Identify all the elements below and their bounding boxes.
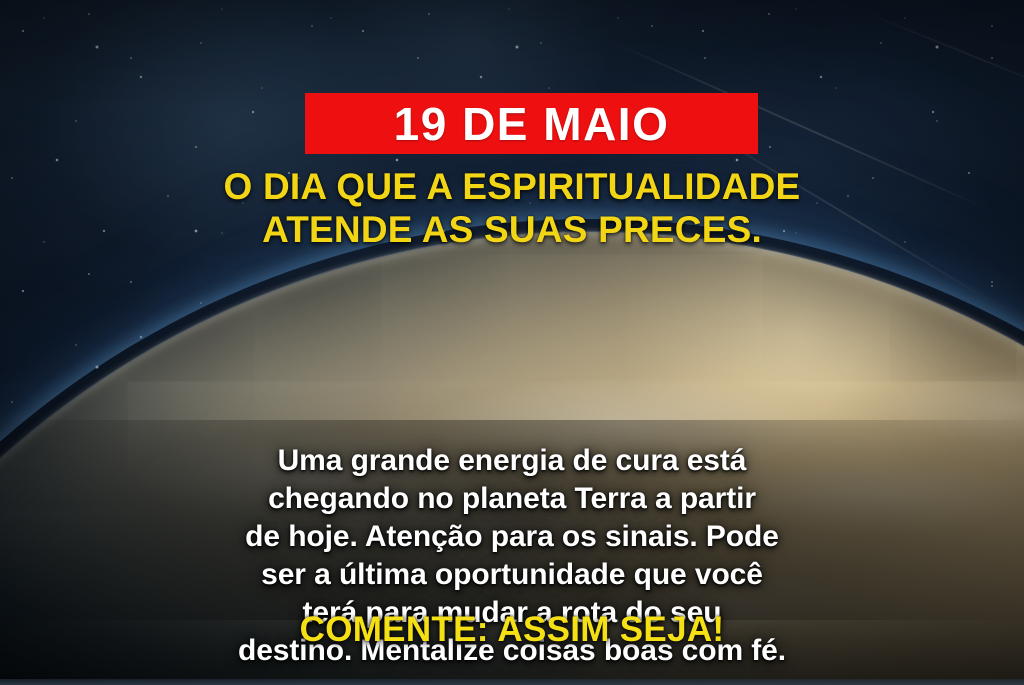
call-to-action-text: COMENTE: ASSIM SEJA!: [0, 612, 1024, 647]
body-copy-line-2: chegando no planeta Terra a partir: [58, 480, 966, 518]
poster-content: 19 DE MAIO O DIA QUE A ESPIRITUALIDADE A…: [0, 0, 1024, 685]
body-copy-line-4: ser a última oportunidade que você: [58, 556, 966, 594]
social-media-poster: 19 DE MAIO O DIA QUE A ESPIRITUALIDADE A…: [0, 0, 1024, 685]
headline-line-2: ATENDE AS SUAS PRECES.: [40, 209, 984, 252]
headline: O DIA QUE A ESPIRITUALIDADE ATENDE AS SU…: [0, 166, 1024, 252]
date-banner: 19 DE MAIO: [305, 93, 758, 154]
body-copy-line-1: Uma grande energia de cura está: [58, 442, 966, 480]
body-copy-line-3: de hoje. Atenção para os sinais. Pode: [58, 518, 966, 556]
date-banner-label: 19 DE MAIO: [394, 101, 670, 147]
headline-line-1: O DIA QUE A ESPIRITUALIDADE: [40, 166, 984, 209]
